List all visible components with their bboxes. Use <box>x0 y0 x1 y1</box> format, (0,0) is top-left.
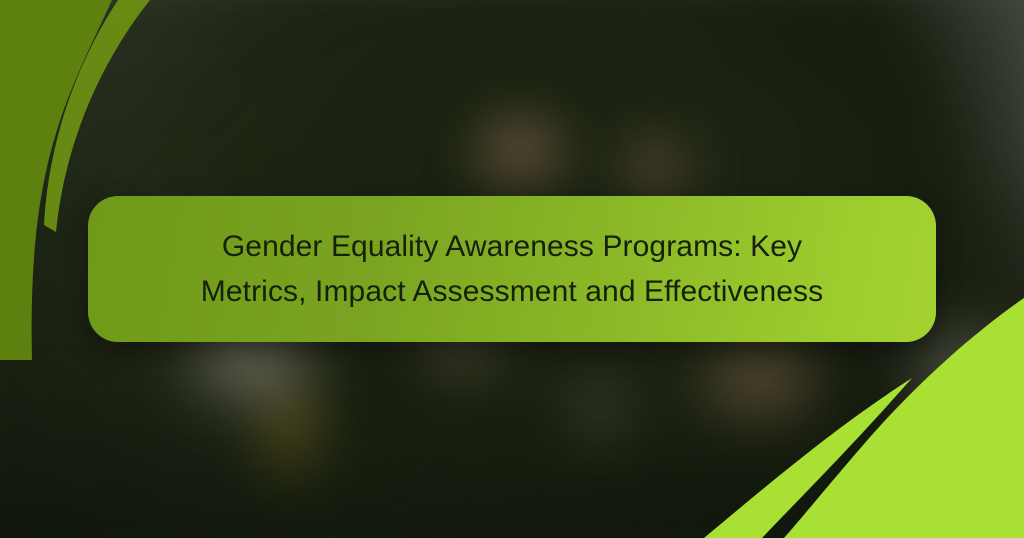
title-card: Gender Equality Awareness Programs: Key … <box>88 196 936 342</box>
banner-hero: Gender Equality Awareness Programs: Key … <box>0 0 1024 538</box>
page-title: Gender Equality Awareness Programs: Key … <box>162 224 862 314</box>
